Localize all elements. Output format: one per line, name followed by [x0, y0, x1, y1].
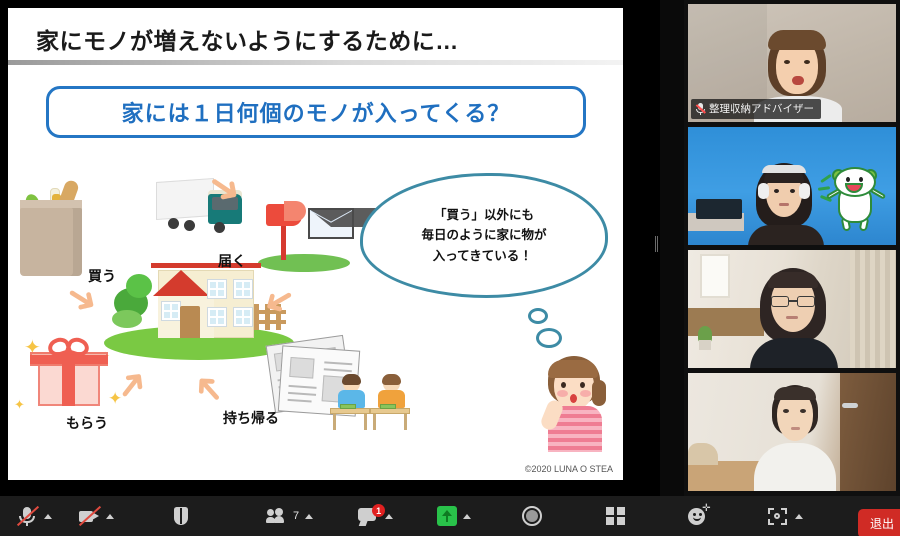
audio-options-caret-icon[interactable] [44, 514, 52, 519]
thought-bubble: 「買う」以外にも 毎日のように家に物が 入ってきている ！ [360, 173, 608, 298]
window-shape [700, 254, 730, 298]
bubble-line-2: 毎日のように家に物が [421, 225, 546, 246]
chat-icon: 1 [357, 505, 379, 527]
apps-button[interactable] [763, 496, 793, 536]
security-button[interactable] [166, 496, 196, 536]
share-screen-icon [437, 506, 457, 526]
apps-caret-icon[interactable] [795, 514, 803, 519]
participant-name-badge: 整理収納アドバイザー [691, 99, 821, 119]
plant-pot-shape [699, 340, 711, 350]
participant-tile[interactable] [688, 250, 896, 368]
caption-buy: 買う [88, 266, 116, 286]
participants-caret-icon[interactable] [305, 514, 313, 519]
chat-button[interactable]: 1 [353, 496, 383, 536]
chat-caret-icon[interactable] [385, 514, 393, 519]
reactions-button[interactable]: ✛ [683, 496, 713, 536]
stop-video-button[interactable] [74, 496, 104, 536]
zoom-meeting-window: 家にモノが増えないようにするために… 家には１日何個のモノが入ってくる？ [0, 0, 900, 536]
meeting-toolbar: 7 1 [0, 496, 900, 536]
bubble-line-1: 「買う」以外にも [421, 205, 546, 226]
mic-muted-icon [696, 103, 705, 115]
participant-video-strip: 整理収納アドバイザー [684, 0, 900, 496]
record-button[interactable] [517, 496, 547, 536]
slide-copyright: ©2020 LUNA O STEA [525, 464, 613, 474]
panel-resize-handle[interactable] [655, 236, 659, 252]
participant-tile[interactable]: 整理収納アドバイザー [688, 4, 896, 122]
floor-shape [688, 461, 762, 491]
participant-tile[interactable] [688, 127, 896, 245]
question-box: 家には１日何個のモノが入ってくる？ [46, 86, 586, 138]
participants-count: 7 [293, 510, 299, 522]
thought-bubble-tail-small [536, 328, 562, 348]
door-shape [840, 373, 896, 491]
camera-off-icon [78, 505, 100, 527]
smiley-plus-icon: ✛ [687, 505, 709, 527]
question-text: 家には１日何個のモノが入ってくる？ [122, 96, 511, 128]
mute-audio-button[interactable] [12, 496, 42, 536]
door-handle-shape [842, 403, 858, 408]
record-icon [521, 505, 543, 527]
laptop-shape [696, 199, 742, 219]
microphone-muted-icon [16, 505, 38, 527]
shared-screen-stage[interactable]: 家にモノが増えないようにするために… 家には１日何個のモノが入ってくる？ [0, 0, 660, 496]
share-screen-button[interactable] [433, 496, 461, 536]
bubble-line-3: 入ってきている ！ [421, 246, 546, 267]
slide-title: 家にモノが増えないようにするために… [36, 22, 459, 56]
caption-bring-home: 持ち帰る [223, 408, 279, 428]
participant-tile[interactable] [688, 373, 896, 491]
mascot-character-icon [830, 167, 882, 229]
shield-icon [170, 505, 192, 527]
window-blinds-shape [850, 250, 896, 368]
participant-name: 整理収納アドバイザー [709, 101, 814, 116]
breakout-rooms-button[interactable] [601, 496, 631, 536]
leave-meeting-button[interactable]: 退出 [858, 509, 900, 536]
caption-deliver: 届く [218, 251, 246, 271]
caption-receive: もらう [66, 413, 108, 433]
video-options-caret-icon[interactable] [106, 514, 114, 519]
title-divider [8, 60, 623, 65]
thought-bubble-tail-large [528, 308, 548, 324]
grid-squares-icon [605, 505, 627, 527]
participants-icon [266, 505, 288, 527]
chat-unread-badge: 1 [372, 504, 385, 517]
share-caret-icon[interactable] [463, 514, 471, 519]
frame-corners-icon [767, 505, 789, 527]
presentation-slide[interactable]: 家にモノが増えないようにするために… 家には１日何個のモノが入ってくる？ [8, 8, 623, 480]
cushion-shape [688, 443, 718, 465]
participants-button[interactable]: 7 [262, 496, 303, 536]
